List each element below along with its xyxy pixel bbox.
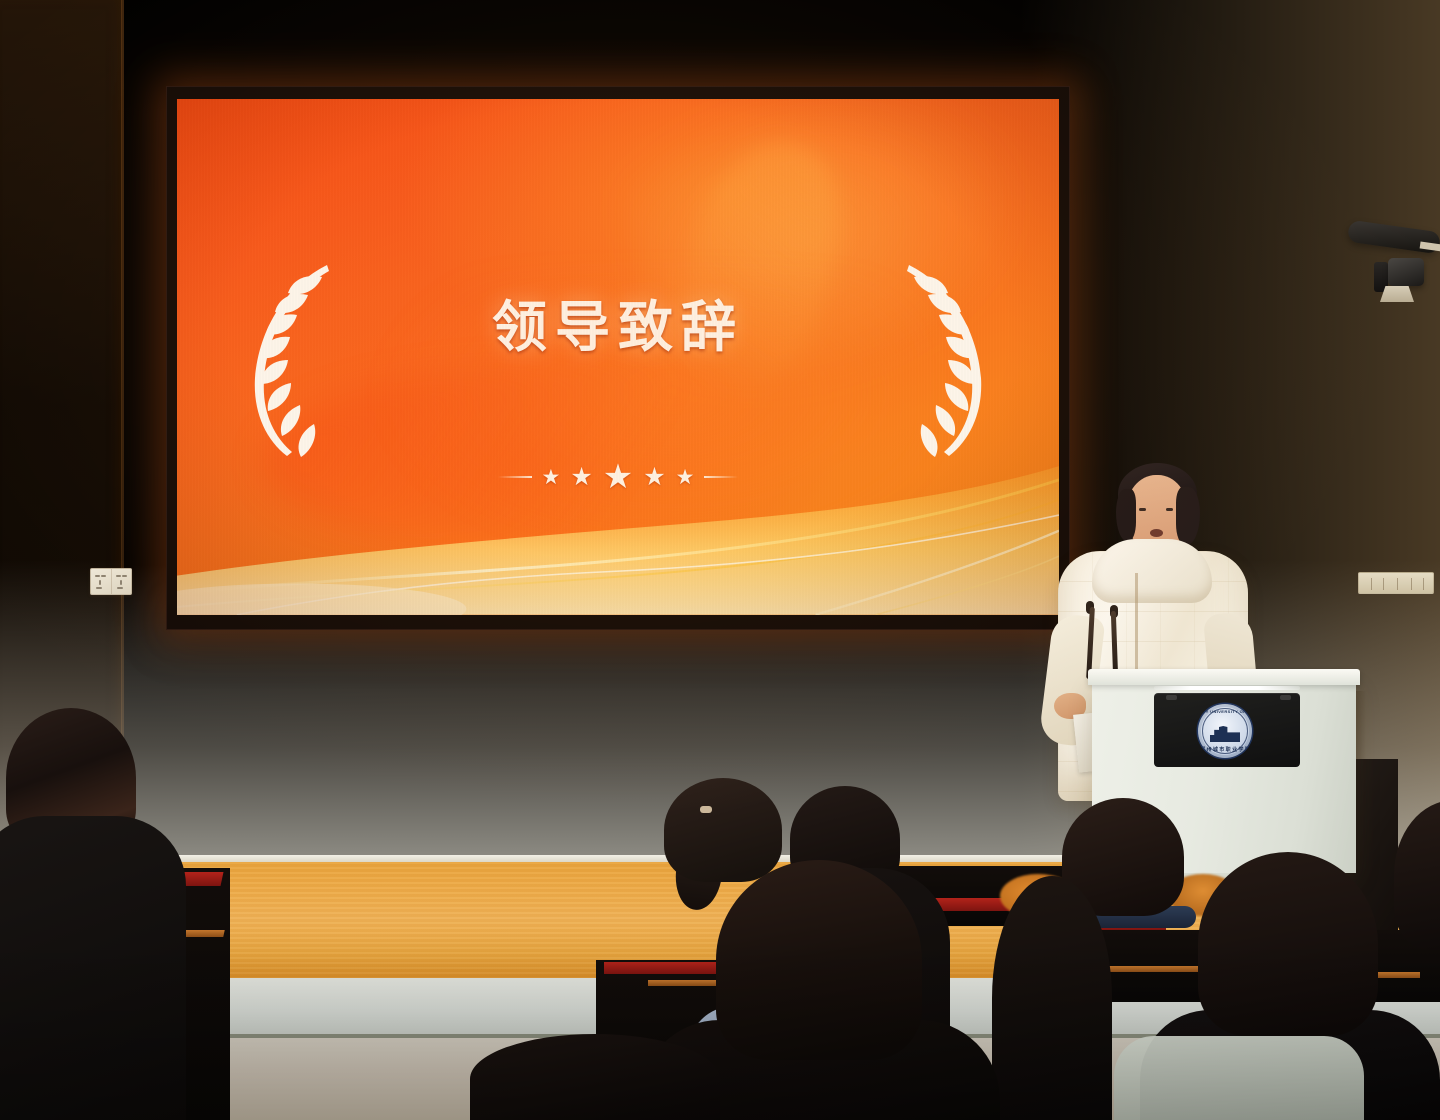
outlet-socket-right[interactable] <box>111 569 132 594</box>
university-emblem-icon: CITY UNIVERSITY OF ZHENGZHOU 郑 州 城 市 职 业… <box>1198 704 1252 758</box>
podium-plate-clip-left <box>1166 695 1177 700</box>
speaker-eye-right <box>1166 508 1173 511</box>
speaker-mouth <box>1150 529 1163 537</box>
audience-head-bottom-left <box>470 1034 720 1120</box>
presentation-screen[interactable]: 领导致辞 ★ ★ ★ ★ ★ <box>177 99 1059 615</box>
speaker-eye-left <box>1139 508 1146 511</box>
audience-light-coat-right <box>1114 1036 1364 1120</box>
slide-title: 领导致辞 <box>177 282 1059 362</box>
auditorium-scene: 领导致辞 ★ ★ ★ ★ ★ <box>0 0 1440 1120</box>
led-screen-frame: 领导致辞 ★ ★ ★ ★ ★ <box>166 86 1070 630</box>
slide-light-ribbons <box>177 429 1059 615</box>
audience-head-right-front <box>1198 852 1378 1036</box>
security-camera-icon <box>1388 258 1424 286</box>
speaker-hair-left <box>1116 489 1136 541</box>
seat-cushion-center[interactable] <box>604 962 724 974</box>
emblem-text-bottom: 郑 州 城 市 职 业 学 院 <box>1198 746 1252 753</box>
outlet-socket-left[interactable] <box>91 569 111 594</box>
audience-head-right-mid <box>992 876 1112 1120</box>
audience-head-center-front <box>716 860 922 1060</box>
speaker-hair-right <box>1176 487 1200 545</box>
audience-head-ponytail <box>664 778 782 882</box>
emblem-text-top: CITY UNIVERSITY OF ZHENGZHOU <box>1198 709 1252 714</box>
podium-top-surface <box>1088 669 1360 685</box>
wall-outlet-panel[interactable] <box>90 568 132 595</box>
podium-plate-clip-right <box>1280 695 1291 700</box>
audience-body-left <box>0 816 186 1120</box>
jacket-hood-collar <box>1092 539 1212 603</box>
podium-light-strip <box>1154 686 1300 690</box>
hair-tie-icon <box>700 806 712 813</box>
camera-wall-mount <box>1380 286 1414 302</box>
